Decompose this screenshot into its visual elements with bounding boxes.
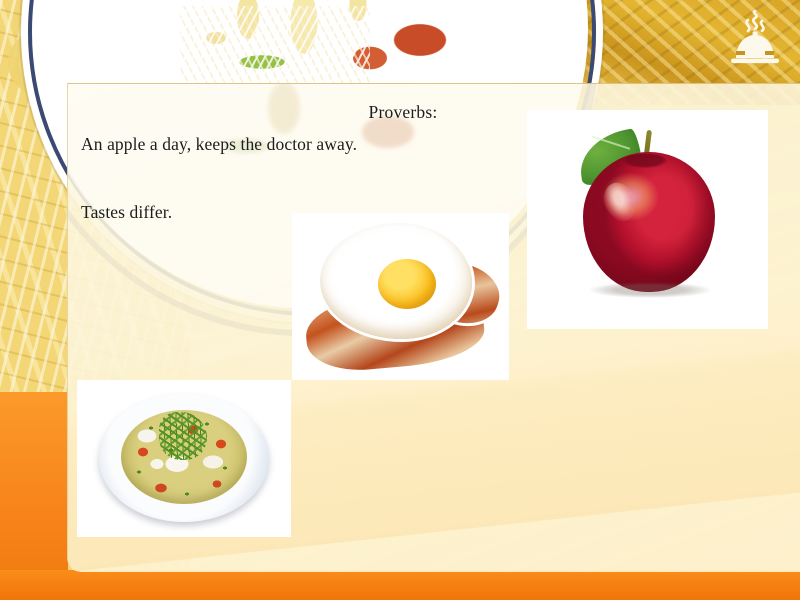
apple-shadow-shape <box>589 282 711 298</box>
grated-cheese-background <box>180 6 370 86</box>
cloche-icon <box>724 10 786 72</box>
egg-bacon-photo <box>292 213 509 380</box>
proverb-line-1: An apple a day, keeps the doctor away. <box>81 134 357 155</box>
orange-left-band <box>0 392 68 600</box>
orange-bottom-band <box>0 570 800 600</box>
apple-photo <box>527 110 768 329</box>
apple-body-shape <box>583 152 715 292</box>
soup-dill-garnish <box>159 412 207 460</box>
fried-egg-yolk <box>378 259 436 309</box>
slide-canvas: Proverbs: An apple a day, keeps the doct… <box>0 0 800 600</box>
soup-photo <box>77 380 291 537</box>
proverb-line-2: Tastes differ. <box>81 202 172 223</box>
apple-dimple-shape <box>623 154 667 168</box>
